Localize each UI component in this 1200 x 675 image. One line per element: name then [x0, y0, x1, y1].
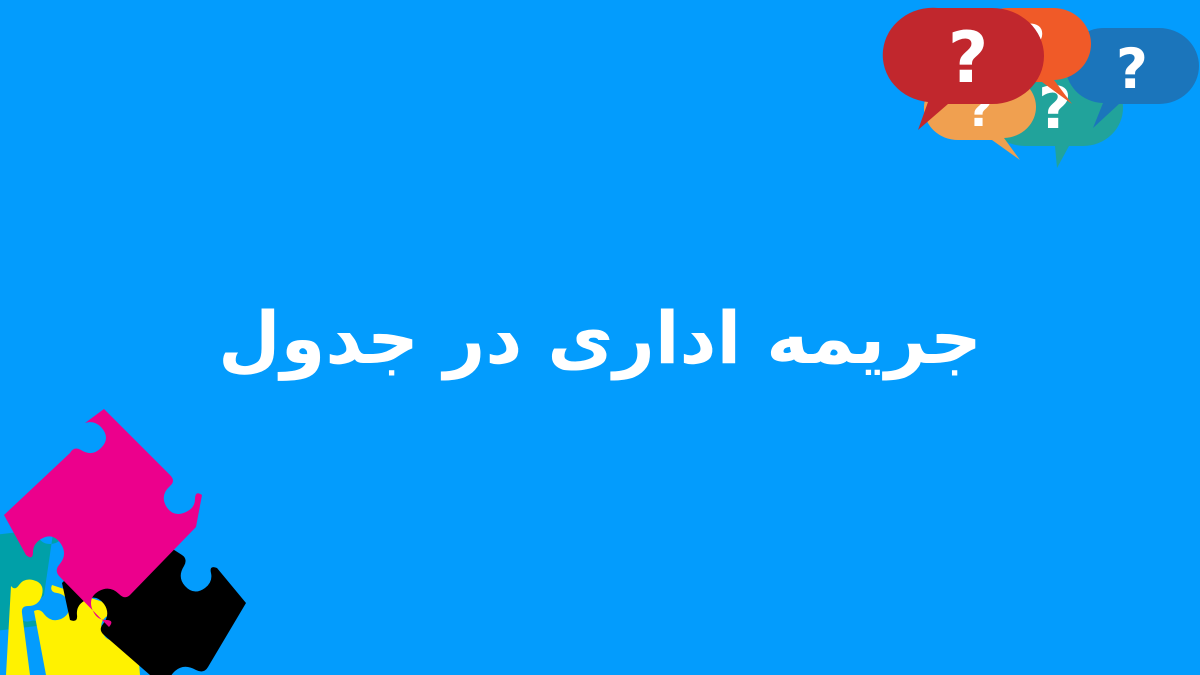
headline-container: جریمه اداری در جدول [0, 0, 1200, 675]
page-title: جریمه اداری در جدول [218, 293, 982, 383]
poster-canvas: ? ? ? ? ? [0, 0, 1200, 675]
